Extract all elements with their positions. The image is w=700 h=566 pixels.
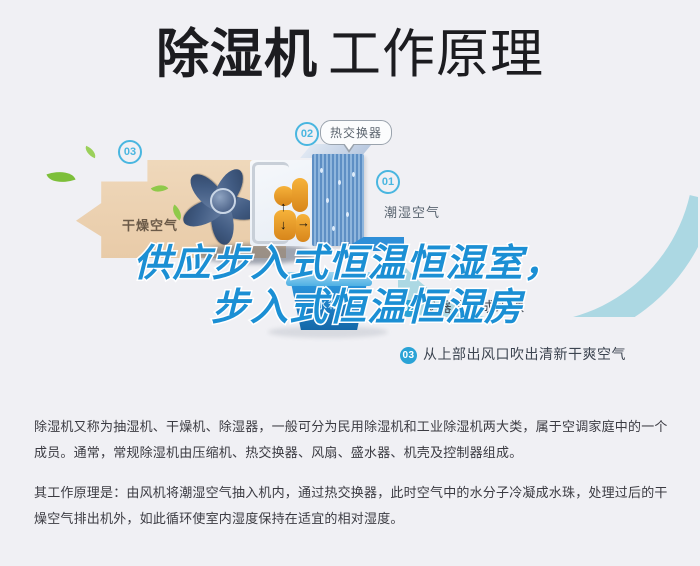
- machine-base-shadow: [196, 244, 316, 264]
- step-number-03: 03: [400, 347, 417, 364]
- humid-air-stream-icon: [398, 117, 698, 317]
- heat-exchanger-callout-bubble: 热交换器: [320, 120, 392, 145]
- callout-number-03: 03: [118, 140, 142, 164]
- compressor-coil-icon: ↑ ↓ →: [250, 160, 320, 246]
- step-text-02: 发器冷凝成水珠: [423, 299, 525, 315]
- step-number-02: 02: [400, 300, 417, 317]
- infographic-canvas: 除湿机工作原理 干燥空气 ↑: [0, 0, 700, 566]
- body-paragraph-2: 其工作原理是：由风机将潮湿空气抽入机内，通过热交换器，此时空气中的水分子冷凝成水…: [34, 480, 670, 532]
- step-text-03: 从上部出风口吹出清新干爽空气: [423, 346, 626, 362]
- water-tank-icon: 水箱: [286, 272, 372, 330]
- page-title-secondary: 工作原理: [328, 24, 544, 86]
- body-copy: 除湿机又称为抽湿机、干燥机、除湿器，一般可分为民用除湿机和工业除湿机两大类，属于…: [34, 414, 670, 532]
- dry-air-label: 干燥空气: [122, 215, 178, 234]
- step-line-03: 03从上部出风口吹出清新干爽空气: [400, 344, 626, 364]
- body-paragraph-1: 除湿机又称为抽湿机、干燥机、除湿器，一般可分为民用除湿机和工业除湿机两大类，属于…: [34, 414, 670, 466]
- heat-exchanger-icon: [312, 154, 364, 246]
- page-title: 除湿机工作原理: [0, 24, 700, 86]
- dehumidifier-illustration: 干燥空气 ↑ ↓ →: [0, 112, 700, 392]
- leaf-icon: [46, 166, 75, 187]
- water-tank-label: 水箱: [316, 296, 340, 312]
- step-line-02: 02发器冷凝成水珠: [400, 297, 525, 317]
- humid-air-label: 潮湿空气: [384, 202, 440, 221]
- page-title-primary: 除湿机: [156, 24, 318, 86]
- leaf-icon: [83, 146, 98, 159]
- callout-number-01: 01: [376, 170, 400, 194]
- callout-number-02: 02: [295, 122, 319, 146]
